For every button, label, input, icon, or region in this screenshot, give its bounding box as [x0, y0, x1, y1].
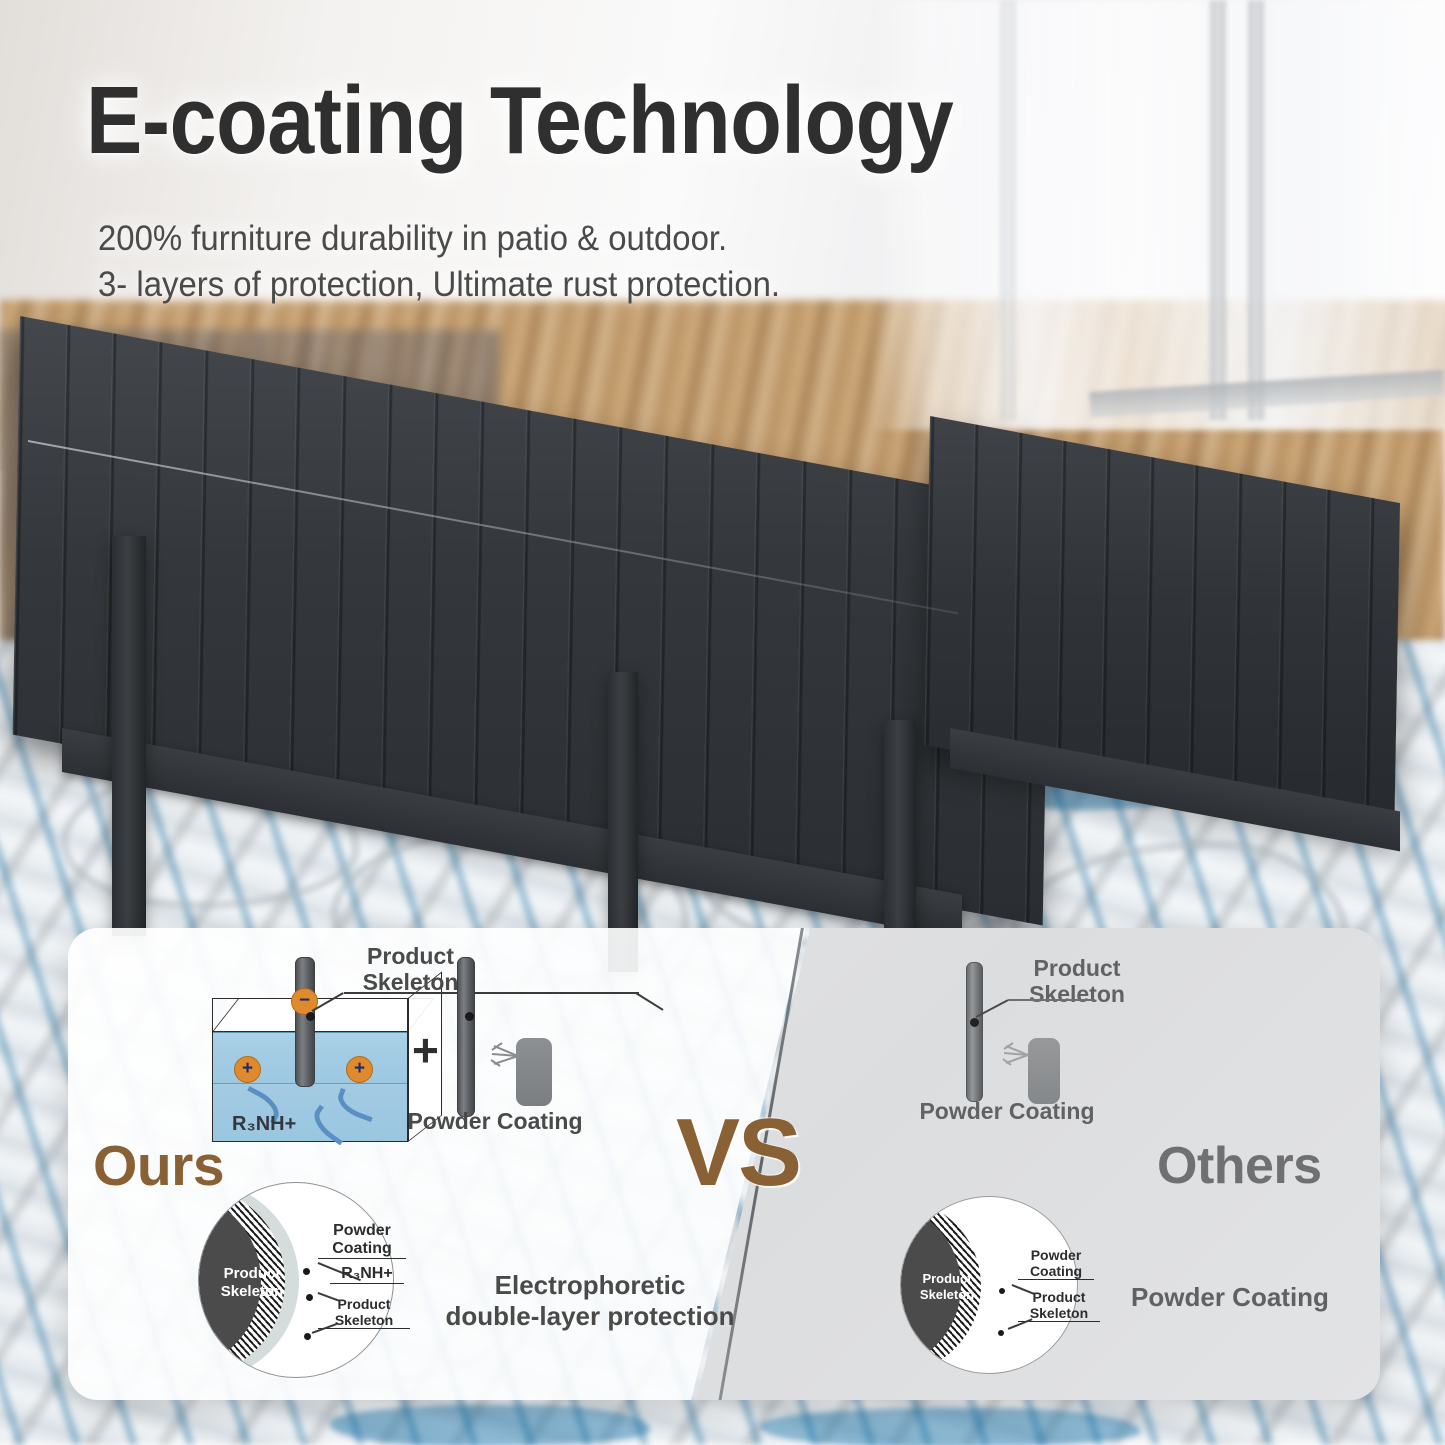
brand-label-ours: Ours: [93, 1133, 224, 1199]
leader-anchor-dot: [306, 1294, 313, 1301]
others-layer-label-product-skeleton: Product Skeleton: [1018, 1290, 1100, 1322]
leader-anchor-dot: [306, 1012, 315, 1021]
rug-blue-accent: [330, 1405, 650, 1445]
others-summary-text: Powder Coating: [1100, 1282, 1360, 1313]
vs-label: VS: [676, 1098, 800, 1208]
leader-line: [1008, 999, 1095, 1001]
ours-layer-label-electrolyte: R₃NH+: [330, 1265, 404, 1284]
leader-anchor-dot: [970, 1018, 979, 1027]
negative-ion-icon: −: [291, 988, 318, 1015]
spray-mist-icon: [1000, 1040, 1032, 1072]
leader-anchor-dot: [999, 1288, 1005, 1294]
others-layer-label-powder-coating: Powder Coating: [1018, 1248, 1094, 1280]
patio-dining-table: [0, 290, 1445, 970]
leader-anchor-dot: [465, 1012, 474, 1021]
leader-anchor-dot: [303, 1268, 310, 1275]
ours-core-label: Product Skeleton: [207, 1265, 297, 1301]
subtitle-block: 200% furniture durability in patio & out…: [98, 216, 780, 308]
others-core-label: Product Skeleton: [905, 1271, 989, 1302]
ours-powder-coating-label: Powder Coating: [400, 1108, 590, 1134]
positive-ion-icon: +: [346, 1056, 373, 1083]
subtitle-line-2: 3- layers of protection, Ultimate rust p…: [98, 262, 780, 308]
cathode-rod: [295, 957, 315, 1087]
rug-blue-accent: [760, 1408, 1140, 1445]
brand-label-others: Others: [1157, 1136, 1322, 1196]
others-cross-section-circle: Product Skeleton: [900, 1196, 1078, 1374]
leader-anchor-dot: [998, 1330, 1004, 1336]
electrolyte-label: R₃NH+: [232, 1113, 296, 1136]
combine-plus-icon: +: [412, 1023, 439, 1077]
leader-line: [344, 992, 639, 994]
leader-anchor-dot: [304, 1333, 311, 1340]
others-product-rod: [966, 962, 983, 1102]
infographic-canvas: E-coating Technology 200% furniture dura…: [0, 0, 1445, 1445]
spray-mist-icon: [488, 1040, 522, 1074]
table-leg: [112, 536, 146, 936]
positive-ion-icon: +: [234, 1056, 261, 1083]
subtitle-line-1: 200% furniture durability in patio & out…: [98, 216, 780, 262]
spray-gun-icon: [1028, 1038, 1060, 1104]
table-leg: [608, 672, 638, 972]
ours-summary-text: Electrophoretic double-layer protection: [440, 1270, 740, 1332]
ours-layer-label-powder-coating: Powder Coating: [318, 1222, 406, 1259]
ours-uncoated-rod: [457, 957, 475, 1117]
page-title: E-coating Technology: [86, 66, 953, 176]
others-powder-coating-label: Powder Coating: [912, 1098, 1102, 1124]
